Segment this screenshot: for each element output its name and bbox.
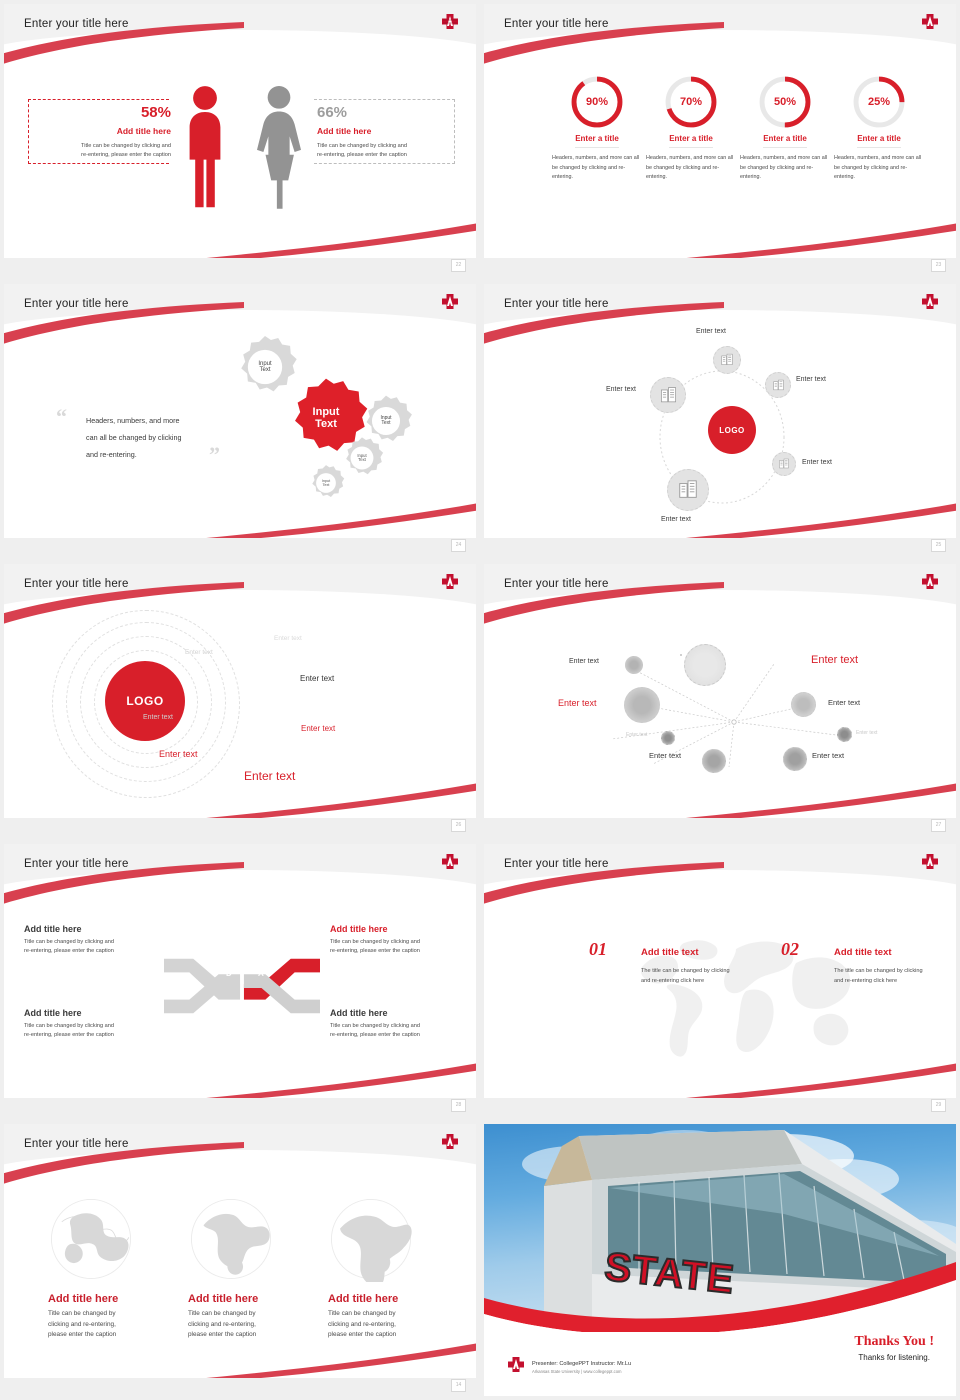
right-caption-line2: re-entering, please enter the caption	[317, 151, 451, 160]
slide-footer-5	[4, 818, 476, 836]
donut-value-4: 25%	[853, 76, 905, 128]
astate-logo-icon	[440, 573, 460, 590]
organization-line: Arkansas State University | www.collegep…	[532, 1369, 631, 1374]
red-swoosh-top-left-icon	[484, 22, 724, 82]
astate-logo-icon	[920, 853, 940, 870]
donut-chart-3: 50%	[759, 76, 811, 128]
presenter-footer: Presenter: CollegePPT Instructor: Mr.Lu …	[532, 1361, 631, 1374]
network-node-small-upper-left[interactable]	[625, 656, 643, 674]
building-icon	[720, 353, 734, 367]
donut-card-3[interactable]: 50% Enter a title Headers, numbers, and …	[738, 76, 832, 183]
block-line1-4: Title can be changed by clicking and	[330, 1022, 476, 1031]
globe-line2-2: clicking and re-entering,	[188, 1320, 318, 1331]
donut-card-4[interactable]: 25% Enter a title Headers, numbers, and …	[832, 76, 926, 183]
ring-label-5: Enter text	[301, 724, 335, 733]
block-line2-4: re-entering, please enter the caption	[330, 1031, 476, 1040]
slide-thumbnail-1[interactable]: Enter your title here 58% Add title here…	[0, 0, 480, 280]
network-node-right[interactable]	[791, 692, 816, 717]
building-icon	[677, 479, 699, 501]
item-line2-1: and re-entering click here	[641, 976, 781, 986]
globe-line1-1: Title can be changed by	[48, 1309, 178, 1320]
page-title: Enter your title here	[24, 18, 129, 30]
globe-heading-1: Add title here	[48, 1293, 178, 1305]
page-number: 27	[931, 819, 946, 832]
network-node-tiny-left[interactable]	[661, 731, 675, 745]
node-circle-top[interactable]	[713, 346, 741, 374]
globe-line1-3: Title can be changed by	[328, 1309, 458, 1320]
slide-canvas-2: Enter your title here 90% Enter a title …	[484, 4, 956, 276]
globe-heading-3: Add title here	[328, 1293, 458, 1305]
page-number: 23	[931, 259, 946, 272]
slide-thumbnail-5[interactable]: Enter your title here LOGO Enter text En…	[0, 560, 480, 840]
slide-canvas-6: Enter your title here Enter text Enter t…	[484, 564, 956, 836]
right-caption-line1: Title can be changed by clicking and	[317, 142, 451, 151]
slide-canvas-3: Enter your title here “ ” Headers, numbe…	[4, 284, 476, 556]
slide-footer-8	[484, 1098, 956, 1116]
donut-body-2: Headers, numbers, and more can all be ch…	[644, 154, 738, 183]
world-map-background-icon	[624, 914, 884, 1074]
arrow-label-d: D	[226, 969, 232, 978]
globe-line3-1: please enter the caption	[48, 1330, 178, 1341]
page-number: 29	[931, 1099, 946, 1112]
slide-footer-2	[484, 258, 956, 276]
astate-logo-icon	[440, 13, 460, 30]
item-line1-1: The title can be changed by clicking	[641, 966, 781, 976]
slide-thumbnail-9[interactable]: Enter your title here Add title here Tit…	[0, 1120, 480, 1400]
slide-thumbnail-6[interactable]: Enter your title here Enter text Enter t…	[480, 560, 960, 840]
slide-canvas-9: Enter your title here Add title here Tit…	[4, 1124, 476, 1396]
globe-card-3[interactable]: Add title here Title can be changed by c…	[328, 1196, 458, 1341]
network-label-bottom-right: Enter text	[812, 751, 844, 760]
red-swoosh-top-left-icon	[484, 862, 724, 922]
network-label-upper-left: Enter text	[569, 658, 599, 665]
text-block-bottom-left: Add title here Title can be changed by c…	[24, 1008, 174, 1040]
donut-value-1: 90%	[571, 76, 623, 128]
astate-logo-icon	[440, 293, 460, 310]
slide-footer-6	[484, 818, 956, 836]
female-figure-icon	[257, 82, 301, 212]
red-swoosh-top-left-icon	[4, 302, 244, 362]
network-label-right: Enter text	[828, 698, 860, 707]
globe-heading-2: Add title here	[188, 1293, 318, 1305]
text-block-bottom-right: Add title here Title can be changed by c…	[330, 1008, 476, 1040]
globe-card-2[interactable]: Add title here Title can be changed by c…	[188, 1196, 318, 1341]
network-node-spacer	[680, 654, 682, 656]
left-caption-line1: Title can be changed by clicking and	[44, 142, 171, 151]
network-label-tiny-left: Enter text	[626, 732, 647, 738]
slide-canvas-1: Enter your title here 58% Add title here…	[4, 4, 476, 276]
network-node-large-top[interactable]	[684, 644, 726, 686]
thanks-subtitle: Thanks for listening.	[854, 1353, 934, 1362]
slide-canvas-10: STATE Thanks You ! Thanks for listening.…	[484, 1124, 956, 1396]
center-logo-circle[interactable]: LOGO	[708, 406, 756, 454]
block-line2-1: re-entering, please enter the caption	[24, 947, 174, 956]
astate-logo-icon	[506, 1356, 526, 1373]
item-line2-2: and re-entering click here	[834, 976, 956, 986]
donut-value-2: 70%	[665, 76, 717, 128]
slide-thumbnail-3[interactable]: Enter your title here “ ” Headers, numbe…	[0, 280, 480, 560]
page-number: 14	[451, 1379, 466, 1392]
page-title: Enter your title here	[504, 298, 609, 310]
right-heading: Add title here	[317, 126, 447, 136]
donut-label-3: Enter a title	[763, 134, 807, 148]
gear-shape-grey-3[interactable]: InputText	[340, 436, 384, 480]
network-label-left: Enter text	[558, 698, 597, 708]
page-number: 26	[451, 819, 466, 832]
astate-logo-icon	[920, 13, 940, 30]
red-swoosh-top-left-icon	[4, 22, 244, 82]
x-arrow-diagram[interactable]	[164, 946, 320, 1026]
ring-label-7: Enter text	[244, 769, 295, 783]
donut-chart-4: 25%	[853, 76, 905, 128]
quote-open-icon: “	[56, 404, 67, 430]
male-figure-icon	[184, 82, 226, 212]
page-title: Enter your title here	[24, 858, 129, 870]
left-heading: Add title here	[49, 126, 171, 136]
page-title: Enter your title here	[24, 1138, 129, 1150]
page-title: Enter your title here	[504, 858, 609, 870]
donut-card-2[interactable]: 70% Enter a title Headers, numbers, and …	[644, 76, 738, 183]
thanks-title: Thanks You !	[854, 1334, 934, 1350]
building-icon	[778, 458, 790, 470]
thank-you-block: Thanks You ! Thanks for listening.	[854, 1334, 934, 1362]
block-line1-2: Title can be changed by clicking and	[330, 938, 476, 947]
left-caption-line2: re-entering, please enter the caption	[44, 151, 171, 160]
network-links	[484, 564, 956, 836]
gear-text-3: InputText	[340, 436, 384, 480]
red-swoosh-top-left-icon	[4, 862, 244, 922]
ring-label-1: Enter text	[274, 635, 302, 642]
network-node-bottom-right[interactable]	[783, 747, 807, 771]
donut-label-2: Enter a title	[669, 134, 713, 148]
arrow-label-a: A	[258, 969, 264, 978]
numbered-item-1: 01	[589, 939, 607, 960]
donut-card-1[interactable]: 90% Enter a title Headers, numbers, and …	[550, 76, 644, 183]
network-label-far-right: Enter text	[856, 730, 877, 736]
item-heading-2: Add title text	[834, 947, 892, 958]
donut-value-3: 50%	[759, 76, 811, 128]
donut-body-3: Headers, numbers, and more can all be ch…	[738, 154, 832, 183]
quote-line-3: and re-entering.	[86, 446, 221, 463]
network-node-left[interactable]	[624, 687, 660, 723]
node-label-top-right: Enter text	[796, 376, 826, 383]
astate-logo-icon	[440, 853, 460, 870]
quote-line-1: Headers, numbers, and more	[86, 412, 221, 429]
center-logo-circle[interactable]: LOGO	[105, 661, 185, 741]
text-block-top-left: Add title here Title can be changed by c…	[24, 924, 174, 956]
numbered-item-2: 02	[781, 939, 799, 960]
globe-icon	[48, 1196, 134, 1282]
ring-label-4: Enter text	[143, 714, 173, 721]
item-number-2: 02	[781, 939, 799, 959]
slide-footer-3	[4, 538, 476, 556]
quote-line-2: can all be changed by clicking	[86, 429, 221, 446]
block-heading-1: Add title here	[24, 924, 174, 934]
node-circle-top-right[interactable]	[765, 372, 791, 398]
ring-label-6: Enter text	[159, 749, 198, 759]
block-heading-2: Add title here	[330, 924, 476, 934]
ring-label-3: Enter text	[300, 674, 334, 683]
network-label-top-right: Enter text	[811, 654, 858, 666]
red-swoosh-top-left-icon	[484, 302, 724, 362]
block-line1-3: Title can be changed by clicking and	[24, 1022, 174, 1031]
item-line1-2: The title can be changed by clicking	[834, 966, 956, 976]
node-circle-bottom-right[interactable]	[772, 452, 796, 476]
presenter-line: Presenter: CollegePPT Instructor: Mr.Lu	[532, 1361, 631, 1367]
globe-line3-3: please enter the caption	[328, 1330, 458, 1341]
globe-icon	[328, 1196, 414, 1282]
slide-footer-9	[4, 1378, 476, 1396]
slide-thumbnail-7[interactable]: Enter your title here Add title here Tit…	[0, 840, 480, 1120]
block-line1-1: Title can be changed by clicking and	[24, 938, 174, 947]
block-line2-3: re-entering, please enter the caption	[24, 1031, 174, 1040]
slide-canvas-5: Enter your title here LOGO Enter text En…	[4, 564, 476, 836]
quote-text: Headers, numbers, and more can all be ch…	[86, 412, 221, 463]
node-label-left: Enter text	[606, 386, 636, 393]
globe-line1-2: Title can be changed by	[188, 1309, 318, 1320]
slide-canvas-7: Enter your title here Add title here Tit…	[4, 844, 476, 1116]
slide-thumbnail-10[interactable]: STATE Thanks You ! Thanks for listening.…	[480, 1120, 960, 1400]
node-label-bottom-right: Enter text	[802, 459, 832, 466]
globe-icon	[188, 1196, 274, 1282]
page-number: 25	[931, 539, 946, 552]
slide-thumbnail-2[interactable]: Enter your title here 90% Enter a title …	[480, 0, 960, 280]
item-number-1: 01	[589, 939, 607, 959]
arrow-label-b: B	[258, 999, 264, 1008]
network-node-far-right[interactable]	[837, 727, 852, 742]
globe-line3-2: please enter the caption	[188, 1330, 318, 1341]
gear-shape-grey-4[interactable]: InputText	[307, 464, 345, 502]
page-title: Enter your title here	[24, 578, 129, 590]
page-title: Enter your title here	[504, 18, 609, 30]
block-heading-3: Add title here	[24, 1008, 174, 1018]
astate-logo-icon	[920, 293, 940, 310]
slide-footer-1	[4, 258, 476, 276]
slide-thumbnail-4[interactable]: Enter your title here LOGO Enter text En…	[480, 280, 960, 560]
block-line2-2: re-entering, please enter the caption	[330, 947, 476, 956]
page-number: 22	[451, 259, 466, 272]
slide-footer-4	[484, 538, 956, 556]
gear-text-4: InputText	[307, 464, 345, 502]
globe-line2-3: clicking and re-entering,	[328, 1320, 458, 1331]
red-swoosh-top-left-icon	[4, 1142, 244, 1202]
page-number: 28	[451, 1099, 466, 1112]
donut-label-4: Enter a title	[857, 134, 901, 148]
node-label-bottom: Enter text	[661, 516, 691, 523]
building-icon	[659, 386, 678, 405]
donut-label-1: Enter a title	[575, 134, 619, 148]
slide-canvas-4: Enter your title here LOGO Enter text En…	[484, 284, 956, 556]
globe-line2-1: clicking and re-entering,	[48, 1320, 178, 1331]
left-percent: 58%	[126, 104, 171, 121]
donut-body-1: Headers, numbers, and more can all be ch…	[550, 154, 644, 183]
right-percent: 66%	[317, 104, 377, 121]
slide-grid: Enter your title here 58% Add title here…	[0, 0, 960, 1400]
item-heading-1: Add title text	[641, 947, 699, 958]
network-label-bottom-left: Enter text	[649, 751, 681, 760]
arrow-label-c: C	[226, 999, 232, 1008]
network-node-bottom-left[interactable]	[702, 749, 726, 773]
node-circle-left[interactable]	[650, 377, 686, 413]
slide-thumbnail-8[interactable]: Enter your title here 01 Add title text …	[480, 840, 960, 1120]
page-title: Enter your title here	[24, 298, 129, 310]
astate-logo-icon	[440, 1133, 460, 1150]
block-heading-4: Add title here	[330, 1008, 476, 1018]
donut-body-4: Headers, numbers, and more can all be ch…	[832, 154, 926, 183]
ring-label-2: Enter text	[185, 649, 213, 656]
slide-footer-7	[4, 1098, 476, 1116]
node-circle-bottom[interactable]	[667, 469, 709, 511]
text-block-top-right: Add title here Title can be changed by c…	[330, 924, 476, 956]
red-ribbon-curve	[484, 1242, 956, 1332]
page-number: 24	[451, 539, 466, 552]
donut-chart-2: 70%	[665, 76, 717, 128]
globe-card-1[interactable]: Add title here Title can be changed by c…	[48, 1196, 178, 1341]
node-label-top: Enter text	[696, 328, 726, 335]
building-icon	[772, 379, 785, 392]
slide-canvas-8: Enter your title here 01 Add title text …	[484, 844, 956, 1116]
donut-chart-1: 90%	[571, 76, 623, 128]
